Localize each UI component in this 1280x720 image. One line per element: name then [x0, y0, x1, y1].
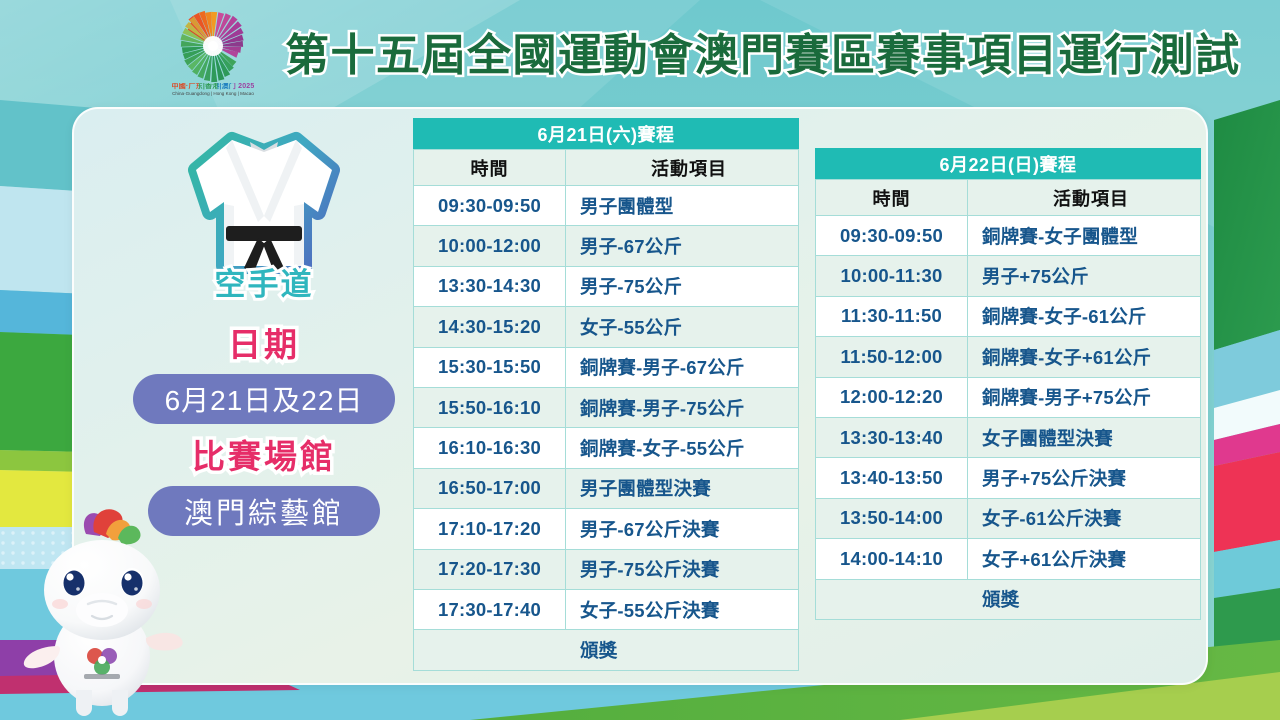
- table-row: 09:30-09:50銅牌賽-女子團體型: [816, 216, 1201, 256]
- date-label: 日期: [228, 324, 300, 366]
- venue-label: 比賽場館: [192, 436, 336, 478]
- schedule-title-day2: 6月22日(日)賽程: [815, 148, 1201, 179]
- cell-event: 銅牌賽-男子+75公斤: [968, 377, 1201, 417]
- cell-time: 09:30-09:50: [414, 186, 566, 226]
- cell-time: 13:30-14:30: [414, 266, 566, 306]
- cell-time: 16:50-17:00: [414, 468, 566, 508]
- schedule-body-day1: 09:30-09:50男子團體型10:00-12:00男子-67公斤13:30-…: [414, 186, 799, 671]
- cell-event: 銅牌賽-女子團體型: [968, 216, 1201, 256]
- table-row: 14:30-15:20女子-55公斤: [414, 307, 799, 347]
- table-row: 16:10-16:30銅牌賽-女子-55公斤: [414, 428, 799, 468]
- cell-time: 15:30-15:50: [414, 347, 566, 387]
- table-row: 12:00-12:20銅牌賽-男子+75公斤: [816, 377, 1201, 417]
- schedule-grid-day2: 時間 活動項目 09:30-09:50銅牌賽-女子團體型10:00-11:30男…: [815, 179, 1201, 620]
- table-row: 16:50-17:00男子團體型決賽: [414, 468, 799, 508]
- cell-event: 男子-75公斤: [566, 266, 799, 306]
- cell-event: 男子+75公斤: [968, 256, 1201, 296]
- table-row-award: 頒獎: [414, 630, 799, 670]
- cell-time: 11:50-12:00: [816, 337, 968, 377]
- cell-event: 銅牌賽-女子+61公斤: [968, 337, 1201, 377]
- schedule-table-day1: 6月21日(六)賽程 時間 活動項目 09:30-09:50男子團體型10:00…: [413, 118, 799, 671]
- cell-event: 男子-67公斤決賽: [566, 509, 799, 549]
- date-value-pill: 6月21日及22日: [133, 374, 395, 424]
- cell-event: 銅牌賽-男子-75公斤: [566, 387, 799, 427]
- table-header-row: 時間 活動項目: [414, 150, 799, 186]
- page-title: 第十五屆全國運動會澳門賽區賽事項目運行測試: [285, 17, 1125, 85]
- table-row: 09:30-09:50男子團體型: [414, 186, 799, 226]
- cell-time: 17:30-17:40: [414, 589, 566, 629]
- cell-event: 銅牌賽-女子-55公斤: [566, 428, 799, 468]
- page-header: 中國·广东|香港|澳门 2025 China·Guangdong | Hong …: [0, 0, 1280, 104]
- white-dolphin-mascot: [14, 498, 192, 720]
- table-header-row: 時間 活動項目: [816, 180, 1201, 216]
- karate-gi-icon: 空手道: [172, 126, 356, 312]
- cell-event: 男子+75公斤決賽: [968, 458, 1201, 498]
- table-row: 10:00-12:00男子-67公斤: [414, 226, 799, 266]
- schedule-body-day2: 09:30-09:50銅牌賽-女子團體型10:00-11:30男子+75公斤11…: [816, 216, 1201, 620]
- table-row: 10:00-11:30男子+75公斤: [816, 256, 1201, 296]
- table-row: 14:00-14:10女子+61公斤決賽: [816, 539, 1201, 579]
- column-header-event: 活動項目: [968, 180, 1201, 216]
- cell-time: 13:30-13:40: [816, 417, 968, 457]
- emblem-caption-en: China·Guangdong | Hong Kong | Macao: [172, 91, 254, 97]
- table-row: 11:50-12:00銅牌賽-女子+61公斤: [816, 337, 1201, 377]
- table-row: 13:50-14:00女子-61公斤決賽: [816, 498, 1201, 538]
- cell-event: 男子-75公斤決賽: [566, 549, 799, 589]
- table-row: 15:50-16:10銅牌賽-男子-75公斤: [414, 387, 799, 427]
- cell-time: 15:50-16:10: [414, 387, 566, 427]
- table-row-award: 頒獎: [816, 579, 1201, 619]
- schedule-title-day1: 6月21日(六)賽程: [413, 118, 799, 149]
- sport-name-label: 空手道: [172, 259, 356, 304]
- column-header-event: 活動項目: [566, 150, 799, 186]
- cell-award: 頒獎: [816, 579, 1201, 619]
- cell-time: 11:30-11:50: [816, 296, 968, 336]
- cell-time: 13:50-14:00: [816, 498, 968, 538]
- cell-event: 銅牌賽-女子-61公斤: [968, 296, 1201, 336]
- column-header-time: 時間: [414, 150, 566, 186]
- cell-event: 女子團體型決賽: [968, 417, 1201, 457]
- cell-time: 12:00-12:20: [816, 377, 968, 417]
- cell-event: 女子+61公斤決賽: [968, 539, 1201, 579]
- schedule-table-day2: 6月22日(日)賽程 時間 活動項目 09:30-09:50銅牌賽-女子團體型1…: [815, 148, 1201, 620]
- cell-time: 17:20-17:30: [414, 549, 566, 589]
- table-row: 13:30-14:30男子-75公斤: [414, 266, 799, 306]
- cell-award: 頒獎: [414, 630, 799, 670]
- cell-event: 男子團體型決賽: [566, 468, 799, 508]
- cell-event: 女子-55公斤決賽: [566, 589, 799, 629]
- cell-event: 女子-55公斤: [566, 307, 799, 347]
- table-row: 17:10-17:20男子-67公斤決賽: [414, 509, 799, 549]
- cell-event: 女子-61公斤決賽: [968, 498, 1201, 538]
- cell-time: 17:10-17:20: [414, 509, 566, 549]
- table-row: 11:30-11:50銅牌賽-女子-61公斤: [816, 296, 1201, 336]
- cell-time: 10:00-11:30: [816, 256, 968, 296]
- cell-time: 10:00-12:00: [414, 226, 566, 266]
- table-row: 17:30-17:40女子-55公斤決賽: [414, 589, 799, 629]
- cell-event: 銅牌賽-男子-67公斤: [566, 347, 799, 387]
- cell-time: 13:40-13:50: [816, 458, 968, 498]
- emblem-caption-cn: 中國·广东|香港|澳门 2025: [172, 83, 255, 91]
- table-row: 15:30-15:50銅牌賽-男子-67公斤: [414, 347, 799, 387]
- cell-event: 男子團體型: [566, 186, 799, 226]
- cell-time: 14:30-15:20: [414, 307, 566, 347]
- cell-time: 14:00-14:10: [816, 539, 968, 579]
- cell-time: 09:30-09:50: [816, 216, 968, 256]
- column-header-time: 時間: [816, 180, 968, 216]
- cell-event: 男子-67公斤: [566, 226, 799, 266]
- table-row: 13:40-13:50男子+75公斤決賽: [816, 458, 1201, 498]
- emblem-caption: 中國·广东|香港|澳门 2025 China·Guangdong | Hong …: [158, 80, 268, 100]
- cell-time: 16:10-16:30: [414, 428, 566, 468]
- table-row: 17:20-17:30男子-75公斤決賽: [414, 549, 799, 589]
- national-games-emblem: 中國·广东|香港|澳门 2025 China·Guangdong | Hong …: [158, 8, 268, 100]
- table-row: 13:30-13:40女子團體型決賽: [816, 417, 1201, 457]
- schedule-grid-day1: 時間 活動項目 09:30-09:50男子團體型10:00-12:00男子-67…: [413, 149, 799, 671]
